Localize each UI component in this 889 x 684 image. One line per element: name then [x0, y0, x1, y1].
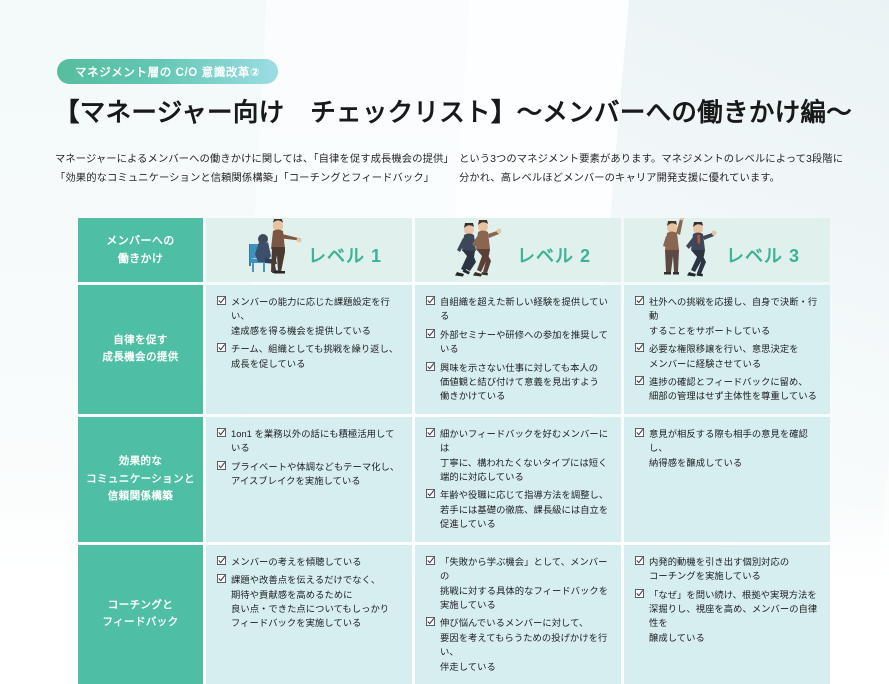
checkbox-checked-icon: [426, 556, 435, 565]
checklist-item-text: 進捗の確認とフィードバックに留め、 細部の管理はせず主体性を尊重している: [649, 375, 817, 404]
cell-communication-level2: 細かいフィードバックを好むメンバーには 丁寧に、構われたくないタイプには短く 端…: [415, 417, 621, 542]
checklist-item: プライベートや体調などもテーマ化し、 アイスブレイクを実施している: [217, 460, 402, 489]
checkbox-checked-icon: [426, 329, 435, 338]
checklist-item-text: 意見が相反する際も相手の意見を確認し、 納得感を醸成している: [649, 427, 820, 470]
checklist-item: 外部セミナーや研修への参加を推奨している: [426, 328, 611, 357]
lead-column-left: マネージャーによるメンバーへの働きかけに関しては、「自律を促す成長機会の提供」 …: [55, 150, 445, 188]
level-2-label: レベル 2: [517, 242, 591, 268]
checkbox-checked-icon: [426, 296, 435, 305]
checklist-item: 意見が相反する際も相手の意見を確認し、 納得感を醸成している: [635, 427, 820, 470]
checklist-item-text: 伸び悩んでいるメンバーに対して、 要因を考えてもらうための投げかけを行い、 伴走…: [440, 616, 611, 674]
row-label-coaching: コーチングと フィードバック: [78, 545, 203, 684]
checkbox-checked-icon: [217, 574, 226, 583]
checklist-item: 内発的動機を引き出す個別対応の コーチングを実施している: [635, 555, 820, 584]
checklist-item-text: 自組織を超えた新しい経験を提供している: [440, 295, 611, 324]
checklist-item: 自組織を超えた新しい経験を提供している: [426, 295, 611, 324]
level-1-label: レベル 1: [308, 242, 382, 268]
section-badge-label: マネジメント層の C/O 意識改革②: [75, 64, 260, 80]
row-label-autonomy: 自律を促す 成長機会の提供: [78, 285, 203, 414]
checkbox-checked-icon: [635, 589, 644, 598]
level-header-3: レベル 3: [624, 218, 830, 282]
level-header-1: レベル 1: [206, 218, 412, 282]
checklist-item-text: メンバーの能力に応じた課題設定を行い、 達成感を得る機会を提供している: [231, 295, 402, 338]
matrix-row-coaching: コーチングと フィードバック メンバーの考えを傾聴している 課題や改善点を伝える…: [78, 545, 830, 684]
row-label-communication: 効果的な コミュニケーションと 信頼関係構築: [78, 417, 203, 542]
checklist-item-text: 必要な権限移譲を行い、意思決定を メンバーに経験させている: [649, 342, 799, 371]
checklist-item: 「なぜ」を問い続け、根拠や実現方法を 深掘りし、視座を高め、メンバーの自律性を …: [635, 588, 820, 646]
matrix-row-autonomy: 自律を促す 成長機会の提供 メンバーの能力に応じた課題設定を行い、 達成感を得る…: [78, 285, 830, 414]
checkbox-checked-icon: [217, 461, 226, 470]
two-running-businessmen-illustration: [445, 218, 511, 278]
lead-right-line-2: 分かれ、高レベルほどメンバーのキャリア開発支援に優れています。: [459, 169, 855, 188]
checklist-item-text: 社外への挑戦を応援し、自身で決断・行動 することをサポートしている: [649, 295, 820, 338]
checkbox-checked-icon: [635, 296, 644, 305]
cell-communication-level1: 1on1 を業務以外の話にも積極活用している プライベートや体調などもテーマ化し…: [206, 417, 412, 542]
level-header-2: レベル 2: [415, 218, 621, 282]
matrix-header-row: メンバーへの 働きかけ: [78, 218, 830, 282]
checkbox-checked-icon: [635, 556, 644, 565]
lead-column-right: という3つのマネジメント要素があります。マネジメントのレベルによって3段階に 分…: [459, 150, 855, 188]
checklist-item-text: プライベートや体調などもテーマ化し、 アイスブレイクを実施している: [231, 460, 399, 489]
checklist-item-text: チーム、組織としても挑戦を繰り返し、 成長を促している: [231, 342, 398, 371]
cell-coaching-level1: メンバーの考えを傾聴している 課題や改善点を伝えるだけでなく、 期待や貢献感を高…: [206, 545, 412, 684]
lead-right-line-1: という3つのマネジメント要素があります。マネジメントのレベルによって3段階に: [459, 150, 855, 169]
checklist-item: 進捗の確認とフィードバックに留め、 細部の管理はせず主体性を尊重している: [635, 375, 820, 404]
checkbox-checked-icon: [426, 428, 435, 437]
checkbox-checked-icon: [217, 556, 226, 565]
checklist-item: 年齢や役職に応じて指導方法を調整し、 若手には基礎の徹底、課長級には自立を 促進…: [426, 488, 611, 531]
checklist-item: 社外への挑戦を応援し、自身で決断・行動 することをサポートしている: [635, 295, 820, 338]
checkbox-checked-icon: [635, 343, 644, 352]
checkbox-checked-icon: [635, 428, 644, 437]
checklist-matrix: メンバーへの 働きかけ: [78, 218, 830, 684]
checklist-item-text: 課題や改善点を伝えるだけでなく、 期待や貢献感を高めるために 良い点・できた点に…: [231, 573, 389, 631]
checkbox-checked-icon: [635, 376, 644, 385]
level-3-label: レベル 3: [726, 242, 800, 268]
checklist-item: 細かいフィードバックを好むメンバーには 丁寧に、構われたくないタイプには短く 端…: [426, 427, 611, 485]
checkbox-checked-icon: [426, 362, 435, 371]
lead-left-line-2: 「効果的なコミュニケーションと信頼関係構築」「コーチングとフィードバック」: [55, 169, 445, 188]
matrix-corner-label: メンバーへの 働きかけ: [78, 218, 203, 282]
matrix-row-communication: 効果的な コミュニケーションと 信頼関係構築 1on1 を業務以外の話にも積極活…: [78, 417, 830, 542]
checkbox-checked-icon: [217, 343, 226, 352]
cell-autonomy-level1: メンバーの能力に応じた課題設定を行い、 達成感を得る機会を提供している チーム、…: [206, 285, 412, 414]
checklist-item: 伸び悩んでいるメンバーに対して、 要因を考えてもらうための投げかけを行い、 伴走…: [426, 616, 611, 674]
checklist-item: 課題や改善点を伝えるだけでなく、 期待や貢献感を高めるために 良い点・できた点に…: [217, 573, 402, 631]
checkbox-checked-icon: [426, 489, 435, 498]
cell-coaching-level3: 内発的動機を引き出す個別対応の コーチングを実施している 「なぜ」を問い続け、根…: [624, 545, 830, 684]
checklist-item-text: メンバーの考えを傾聴している: [231, 555, 362, 569]
checklist-item: チーム、組織としても挑戦を繰り返し、 成長を促している: [217, 342, 402, 371]
cell-autonomy-level2: 自組織を超えた新しい経験を提供している 外部セミナーや研修への参加を推奨している…: [415, 285, 621, 414]
checklist-item: メンバーの考えを傾聴している: [217, 555, 402, 569]
page-title: 【マネージャー向け チェックリスト】〜メンバーへの働きかけ編〜: [54, 92, 852, 129]
cell-autonomy-level3: 社外への挑戦を応援し、自身で決断・行動 することをサポートしている 必要な権限移…: [624, 285, 830, 414]
cell-coaching-level2: 「失敗から学ぶ機会」として、メンバーの 挑戦に対する具体的なフィードバックを 実…: [415, 545, 621, 684]
checklist-item-text: 外部セミナーや研修への参加を推奨している: [440, 328, 611, 357]
checkbox-checked-icon: [217, 296, 226, 305]
manager-pointing-at-seated-member-illustration: [236, 218, 302, 278]
checklist-item: メンバーの能力に応じた課題設定を行い、 達成感を得る機会を提供している: [217, 295, 402, 338]
checklist-item-text: 年齢や役職に応じて指導方法を調整し、 若手には基礎の徹底、課長級には自立を 促進…: [440, 488, 608, 531]
checklist-item-text: 1on1 を業務以外の話にも積極活用している: [231, 427, 402, 456]
checkbox-checked-icon: [217, 428, 226, 437]
checklist-item-text: 「失敗から学ぶ機会」として、メンバーの 挑戦に対する具体的なフィードバックを 実…: [440, 555, 611, 613]
cell-communication-level3: 意見が相反する際も相手の意見を確認し、 納得感を醸成している: [624, 417, 830, 542]
lead-left-line-1: マネージャーによるメンバーへの働きかけに関しては、「自律を促す成長機会の提供」: [55, 150, 445, 169]
checklist-item-text: 内発的動機を引き出す個別対応の コーチングを実施している: [649, 555, 789, 584]
checklist-item-text: 興味を示さない仕事に対しても本人の 価値観と結び付けて意義を見出すよう 働きかけ…: [440, 361, 599, 404]
checklist-item: 必要な権限移譲を行い、意思決定を メンバーに経験させている: [635, 342, 820, 371]
checklist-item-text: 細かいフィードバックを好むメンバーには 丁寧に、構われたくないタイプには短く 端…: [440, 427, 611, 485]
checklist-item: 興味を示さない仕事に対しても本人の 価値観と結び付けて意義を見出すよう 働きかけ…: [426, 361, 611, 404]
checklist-item: 「失敗から学ぶ機会」として、メンバーの 挑戦に対する具体的なフィードバックを 実…: [426, 555, 611, 613]
checklist-item: 1on1 を業務以外の話にも積極活用している: [217, 427, 402, 456]
checklist-item-text: 「なぜ」を問い続け、根拠や実現方法を 深掘りし、視座を高め、メンバーの自律性を …: [649, 588, 820, 646]
cheering-man-and-running-businessman-illustration: [654, 218, 720, 278]
section-badge: マネジメント層の C/O 意識改革②: [57, 59, 278, 84]
lead-paragraph: マネージャーによるメンバーへの働きかけに関しては、「自律を促す成長機会の提供」 …: [55, 150, 855, 188]
